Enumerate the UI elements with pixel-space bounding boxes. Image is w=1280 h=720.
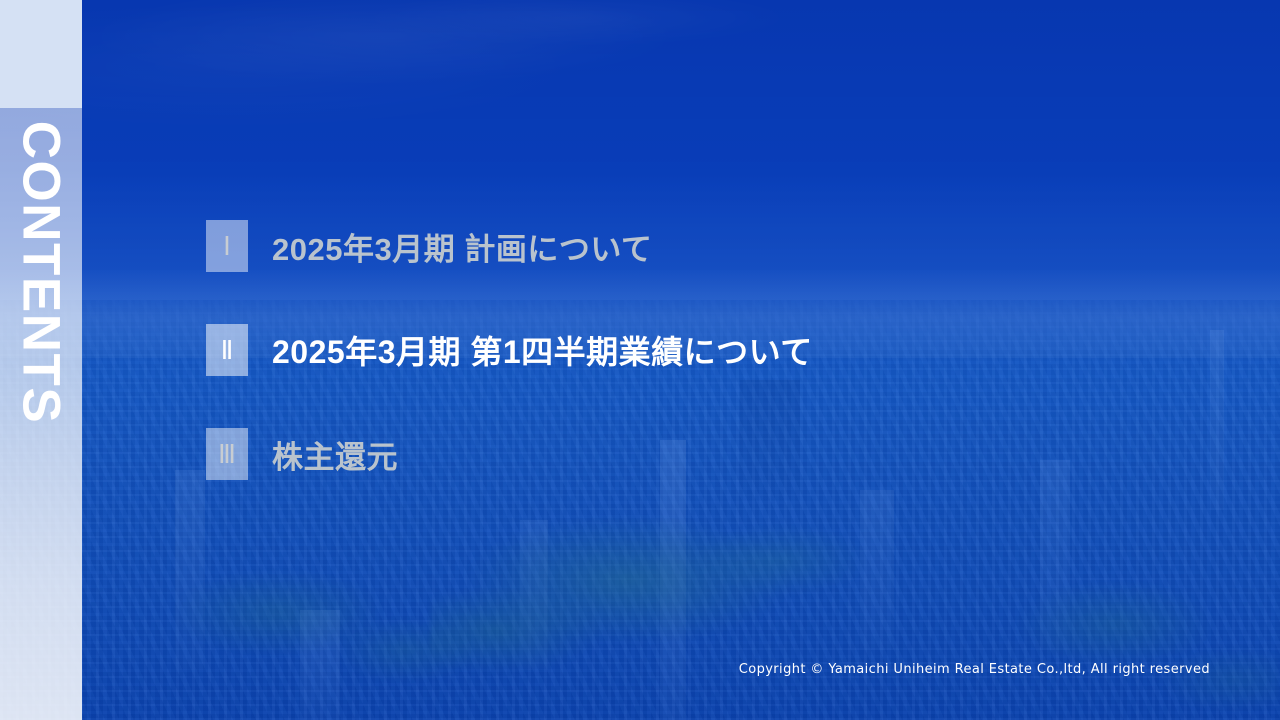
presentation-slide: CONTENTS Ⅰ 2025年3月期 計画について Ⅱ 2025年3月期 第1…: [0, 0, 1280, 720]
contents-item-2-numeral: Ⅱ: [206, 324, 248, 376]
contents-item-1-label: 2025年3月期 計画について: [272, 224, 652, 269]
sidebar-title: CONTENTS: [0, 122, 82, 422]
contents-item-2-label: 2025年3月期 第1四半期業績について: [272, 327, 813, 373]
copyright-notice: Copyright © Yamaichi Uniheim Real Estate…: [739, 662, 1210, 677]
contents-item-3-numeral: Ⅲ: [206, 428, 248, 480]
contents-item-1-numeral: Ⅰ: [206, 220, 248, 272]
sidebar-top-block: [0, 0, 82, 108]
contents-item-1[interactable]: Ⅰ 2025年3月期 計画について: [206, 220, 652, 272]
contents-sidebar: CONTENTS: [0, 0, 82, 720]
sidebar-title-text: CONTENTS: [15, 120, 68, 424]
contents-item-3[interactable]: Ⅲ 株主還元: [206, 428, 398, 480]
contents-item-2[interactable]: Ⅱ 2025年3月期 第1四半期業績について: [206, 324, 813, 376]
contents-item-3-label: 株主還元: [272, 432, 398, 477]
